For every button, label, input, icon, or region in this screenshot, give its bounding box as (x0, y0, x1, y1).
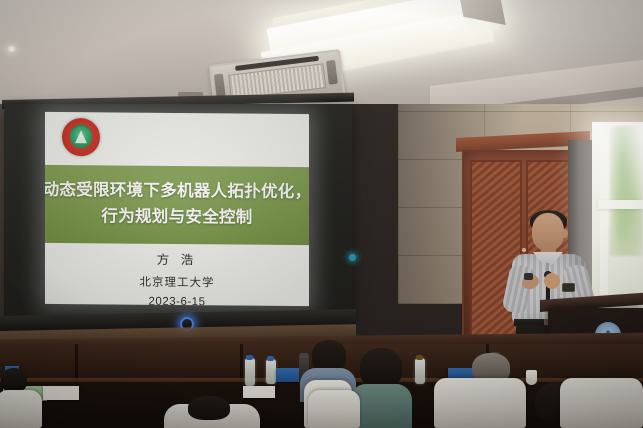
slide-affiliation: 北京理工大学 (140, 274, 215, 291)
slide-title-line-1: 动态受限环境下多机器人拓扑优化， (45, 178, 309, 206)
recessed-downlight (7, 46, 16, 52)
white-chair-cover (0, 390, 42, 428)
presentation-slide: 动态受限环境下多机器人拓扑优化， 行为规划与安全控制 方 浩 北京理工大学 20… (45, 112, 309, 306)
teal-status-led (349, 254, 356, 261)
slide-metadata: 方 浩 北京理工大学 2023-6-15 (45, 248, 309, 306)
bottle-cap (416, 355, 423, 360)
presenter-clicker[interactable] (524, 273, 533, 280)
slide-date: 2023-6-15 (149, 296, 206, 306)
presenter-right-hand (544, 273, 560, 289)
lecture-hall-photo: 动态受限环境下多机器人拓扑优化， 行为规划与安全控制 方 浩 北京理工大学 20… (0, 0, 643, 428)
water-bottle (266, 359, 276, 384)
bottle-cap (246, 355, 253, 360)
white-chair-cover (434, 378, 526, 428)
vent-slot (326, 60, 338, 85)
audience-head (188, 396, 230, 420)
white-chair-cover (308, 390, 360, 428)
slide-presenter-name: 方 浩 (157, 249, 197, 268)
university-emblem-icon (62, 118, 100, 156)
water-bottle (415, 358, 425, 384)
presenter-ear (562, 229, 568, 238)
audience-head (1, 368, 27, 392)
white-papers (43, 386, 79, 400)
emblem-tree-icon (75, 130, 87, 143)
slide-title: 动态受限环境下多机器人拓扑优化， 行为规划与安全控制 (45, 165, 309, 245)
wristwatch (562, 283, 575, 292)
white-chair-cover (560, 378, 643, 428)
slide-title-line-2: 行为规划与安全控制 (101, 204, 252, 231)
bottle-cap (267, 356, 274, 361)
white-papers (243, 386, 275, 398)
audience-head (360, 348, 402, 388)
paper-cup (526, 370, 537, 385)
water-bottle (245, 358, 255, 386)
